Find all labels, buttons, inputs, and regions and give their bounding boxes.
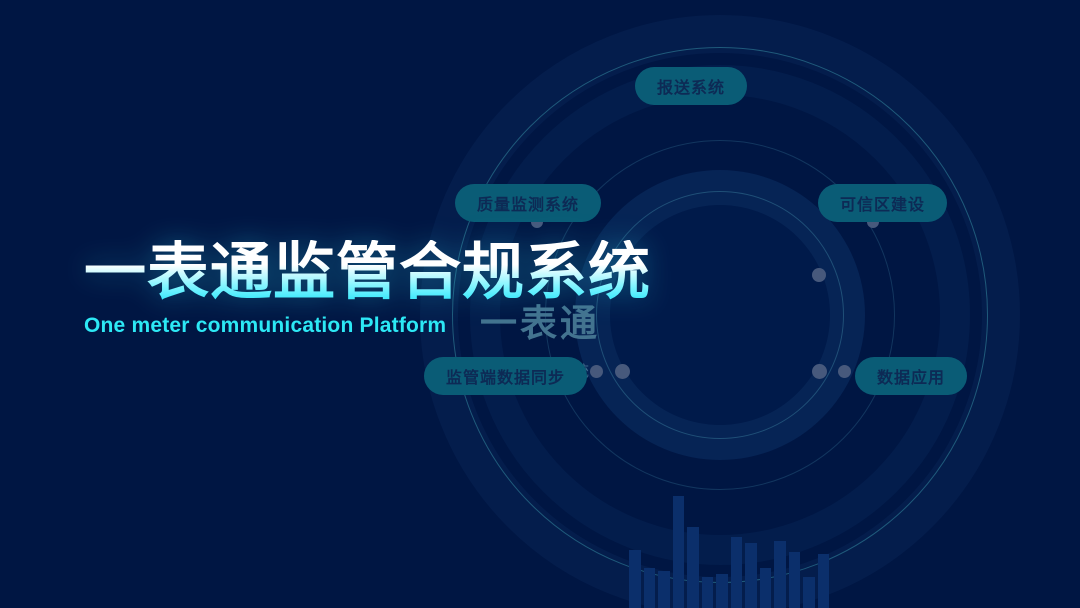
chart-bar bbox=[803, 577, 815, 608]
chart-bar bbox=[789, 552, 801, 608]
slide-canvas: 一表通 监管合规系统 报送系统 质量监测系统 可信区建设 监管端数据同步 数据应… bbox=[0, 0, 1080, 608]
node-pill-lower-left-label: 监管端数据同步 bbox=[446, 364, 565, 388]
chart-bar bbox=[687, 527, 699, 608]
node-pill-top[interactable]: 报送系统 bbox=[635, 67, 747, 105]
node-pill-upper-left-label: 质量监测系统 bbox=[477, 191, 579, 215]
connector-dot-lower-right-a bbox=[812, 364, 827, 379]
node-pill-lower-right-label: 数据应用 bbox=[877, 364, 945, 388]
connector-dot-lower-left-b bbox=[615, 364, 630, 379]
chart-bar bbox=[731, 537, 743, 608]
node-pill-upper-right[interactable]: 可信区建设 bbox=[818, 184, 947, 222]
chart-bar bbox=[716, 574, 728, 608]
chart-bar bbox=[774, 541, 786, 608]
chart-bar bbox=[644, 568, 656, 608]
chart-bar bbox=[673, 496, 685, 608]
chart-bar bbox=[702, 577, 714, 608]
decorative-bar-chart bbox=[629, 496, 829, 608]
chart-bar bbox=[745, 543, 757, 608]
node-pill-top-label: 报送系统 bbox=[657, 74, 725, 98]
chart-bar bbox=[818, 554, 830, 608]
node-pill-upper-right-label: 可信区建设 bbox=[840, 191, 925, 215]
connector-dot-upper-right bbox=[812, 268, 826, 282]
connector-dot-lower-right-b bbox=[838, 365, 851, 378]
chart-bar bbox=[760, 568, 772, 608]
node-pill-lower-left[interactable]: 监管端数据同步 bbox=[424, 357, 587, 395]
connector-dot-lower-left-a bbox=[590, 365, 603, 378]
chart-bar bbox=[629, 550, 641, 608]
node-pill-lower-right[interactable]: 数据应用 bbox=[855, 357, 967, 395]
page-subtitle: One meter communication Platform bbox=[84, 314, 651, 338]
node-pill-upper-left[interactable]: 质量监测系统 bbox=[455, 184, 601, 222]
page-title: 一表通监管合规系统 bbox=[84, 240, 651, 305]
title-block: 一表通监管合规系统 One meter communication Platfo… bbox=[84, 240, 651, 338]
chart-bar bbox=[658, 571, 670, 608]
